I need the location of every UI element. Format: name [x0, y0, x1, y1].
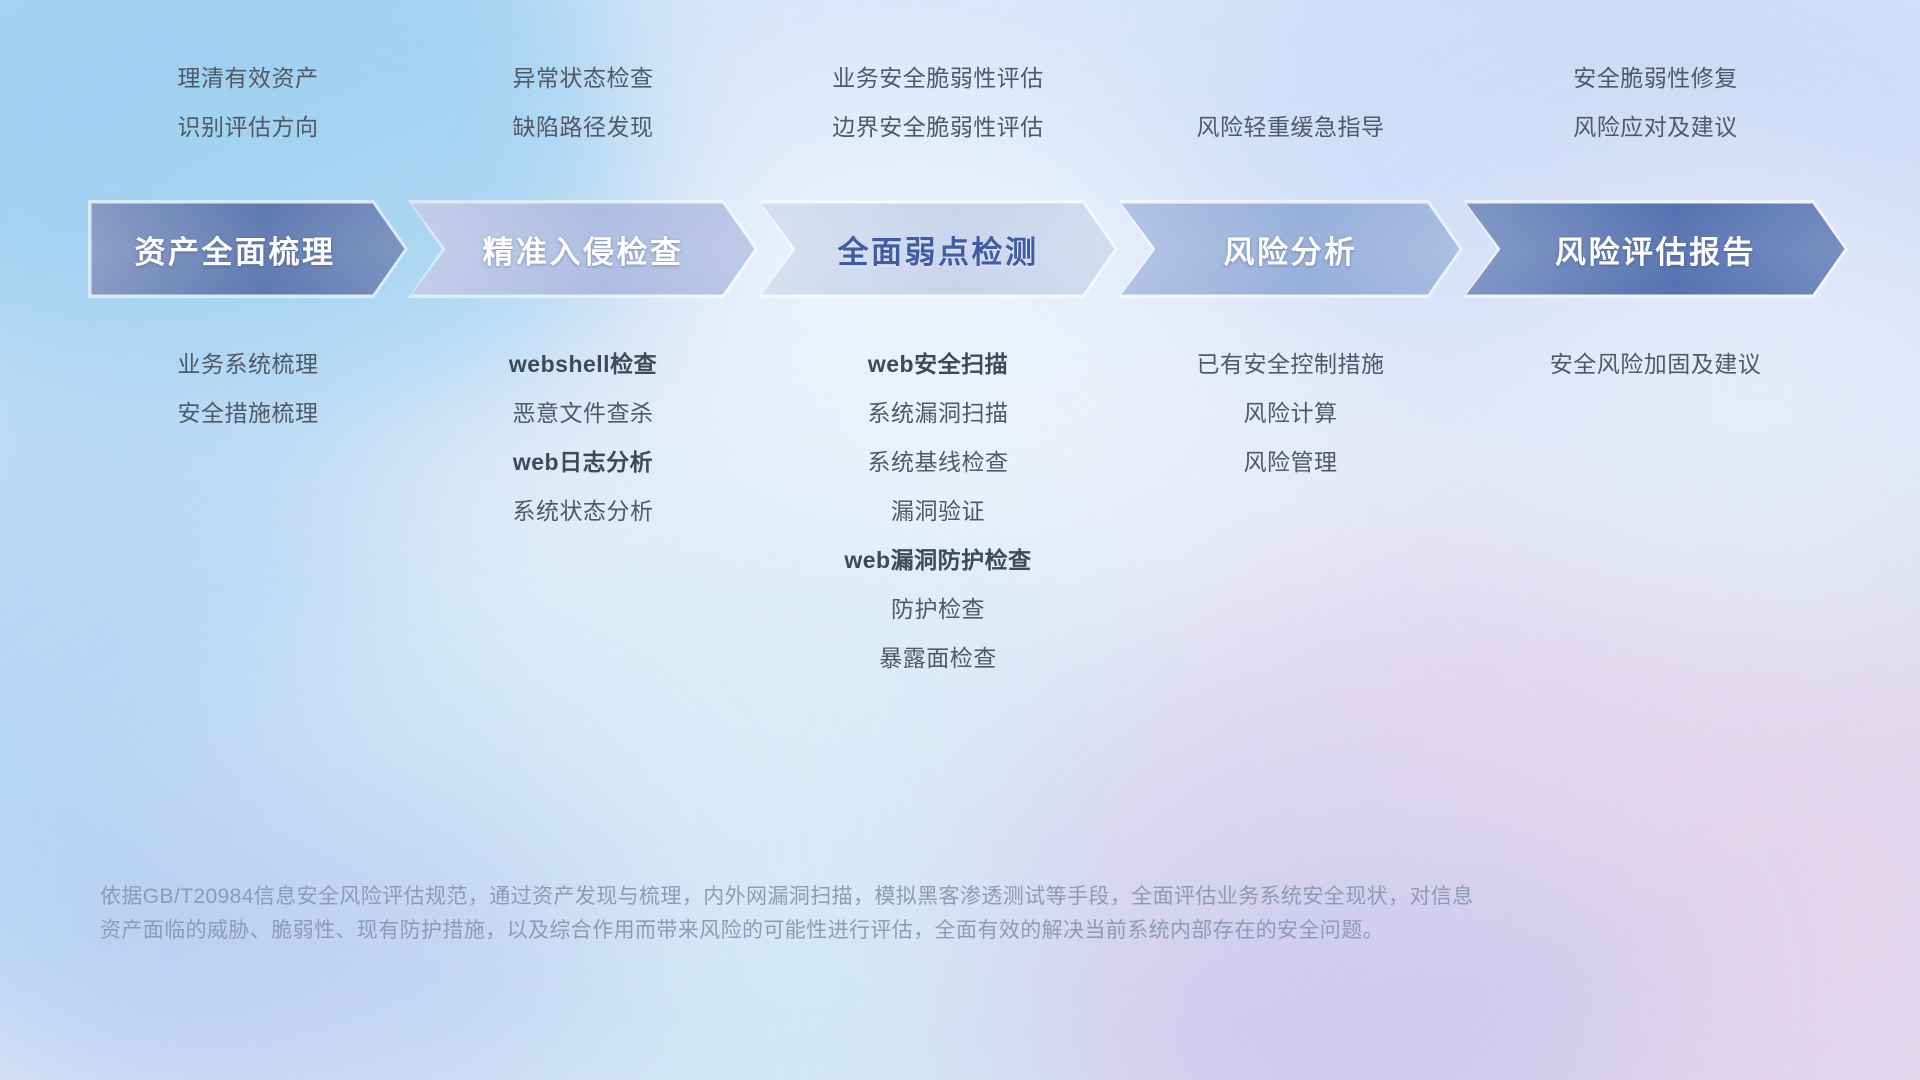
stage-1-bottom-item: 业务系统梳理 [88, 340, 408, 389]
stage-5-top-item: 风险应对及建议 [1463, 103, 1848, 152]
stage-2-title: 精准入侵检查 [483, 227, 684, 272]
stage-4-bottom-item: 已有安全控制措施 [1118, 340, 1463, 389]
stage-1-top-list: 理清有效资产识别评估方向 [88, 54, 408, 200]
stage-1-top-item: 理清有效资产 [88, 54, 408, 103]
stage-3-bottom-item: 暴露面检查 [758, 634, 1118, 683]
stage-3-bottom-item: web安全扫描 [758, 340, 1118, 389]
stage-3-bottom-item: 系统基线检查 [758, 438, 1118, 487]
stage-2-top-item: 异常状态检查 [408, 54, 758, 103]
stage-3-title: 全面弱点检测 [838, 227, 1039, 272]
stage-1-bottom-item: 安全措施梳理 [88, 389, 408, 438]
stage-2-bottom-item: web日志分析 [408, 438, 758, 487]
stage-4-top-list: 风险轻重缓急指导 [1118, 103, 1463, 200]
stage-2-chevron[interactable]: 精准入侵检查 [408, 200, 758, 298]
flow-stage-3: 业务安全脆弱性评估边界安全脆弱性评估全面弱点检测web安全扫描系统漏洞扫描系统基… [758, 200, 1118, 298]
stage-5-top-list: 安全脆弱性修复风险应对及建议 [1463, 54, 1848, 200]
stage-4-bottom-list: 已有安全控制措施风险计算风险管理 [1118, 298, 1463, 487]
stage-2-top-list: 异常状态检查缺陷路径发现 [408, 54, 758, 200]
stage-2-bottom-list: webshell检查恶意文件查杀web日志分析系统状态分析 [408, 298, 758, 536]
stage-1-top-item: 识别评估方向 [88, 103, 408, 152]
footer-line-2: 资产面临的威胁、脆弱性、现有防护措施，以及综合作用而带来风险的可能性进行评估，全… [100, 914, 1660, 948]
flow-stage-4: 风险轻重缓急指导风险分析已有安全控制措施风险计算风险管理 [1118, 200, 1463, 298]
stage-2-bottom-item: 系统状态分析 [408, 487, 758, 536]
stage-1-chevron[interactable]: 资产全面梳理 [88, 200, 408, 298]
stage-2-bottom-item: 恶意文件查杀 [408, 389, 758, 438]
stage-3-bottom-item: 防护检查 [758, 585, 1118, 634]
flow-stage-2: 异常状态检查缺陷路径发现精准入侵检查webshell检查恶意文件查杀web日志分… [408, 200, 758, 298]
stage-5-chevron[interactable]: 风险评估报告 [1463, 200, 1848, 298]
stage-3-top-item: 边界安全脆弱性评估 [758, 103, 1118, 152]
stage-4-bottom-item: 风险管理 [1118, 438, 1463, 487]
stage-4-bottom-item: 风险计算 [1118, 389, 1463, 438]
stage-4-title: 风险分析 [1224, 227, 1358, 272]
stage-3-bottom-item: web漏洞防护检查 [758, 536, 1118, 585]
stage-3-top-list: 业务安全脆弱性评估边界安全脆弱性评估 [758, 54, 1118, 200]
stage-3-chevron[interactable]: 全面弱点检测 [758, 200, 1118, 298]
stage-5-title: 风险评估报告 [1555, 227, 1756, 272]
stage-4-top-item: 风险轻重缓急指导 [1118, 103, 1463, 152]
stage-1-title: 资产全面梳理 [135, 227, 362, 272]
stage-5-bottom-list: 安全风险加固及建议 [1463, 298, 1848, 389]
flow-stage-5: 安全脆弱性修复风险应对及建议风险评估报告安全风险加固及建议 [1463, 200, 1848, 298]
stage-1-bottom-list: 业务系统梳理安全措施梳理 [88, 298, 408, 438]
stage-3-top-item: 业务安全脆弱性评估 [758, 54, 1118, 103]
stage-3-bottom-list: web安全扫描系统漏洞扫描系统基线检查漏洞验证web漏洞防护检查防护检查暴露面检… [758, 298, 1118, 683]
stage-3-bottom-item: 系统漏洞扫描 [758, 389, 1118, 438]
stage-4-chevron[interactable]: 风险分析 [1118, 200, 1463, 298]
stage-2-top-item: 缺陷路径发现 [408, 103, 758, 152]
stage-5-top-item: 安全脆弱性修复 [1463, 54, 1848, 103]
footer-line-1: 依据GB/T20984信息安全风险评估规范，通过资产发现与梳理，内外网漏洞扫描，… [100, 880, 1660, 914]
stage-2-bottom-item: webshell检查 [408, 340, 758, 389]
process-flow: 理清有效资产识别评估方向资产全面梳理业务系统梳理安全措施梳理异常状态检查缺陷路径… [88, 200, 1848, 298]
stage-5-bottom-item: 安全风险加固及建议 [1463, 340, 1848, 389]
stage-3-bottom-item: 漏洞验证 [758, 487, 1118, 536]
flow-stage-1: 理清有效资产识别评估方向资产全面梳理业务系统梳理安全措施梳理 [88, 200, 408, 298]
footer-description: 依据GB/T20984信息安全风险评估规范，通过资产发现与梳理，内外网漏洞扫描，… [100, 880, 1660, 948]
